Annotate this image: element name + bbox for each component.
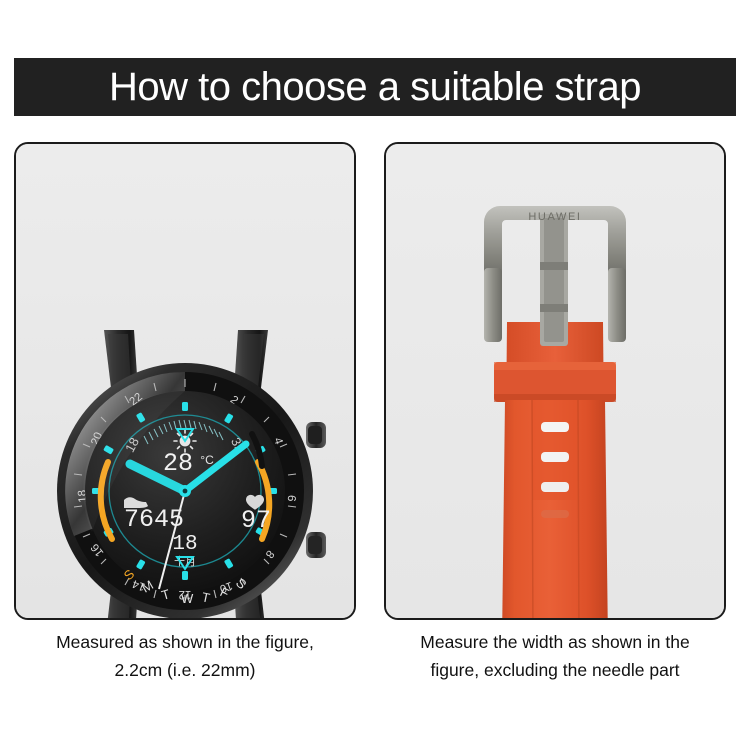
buckle-brand-label: HUAWEI bbox=[528, 211, 581, 223]
method-1-caption-line2: 2.2cm (i.e. 22mm) bbox=[14, 656, 356, 684]
method-1-panel: Method 1 bbox=[14, 142, 356, 620]
strap-svg: HUAWEI bbox=[386, 144, 724, 618]
method-2-caption-line2: figure, excluding the needle part bbox=[384, 656, 726, 684]
page-root: How to choose a suitable strap Method 1 bbox=[0, 0, 750, 750]
method-1-caption: Measured as shown in the figure, 2.2cm (… bbox=[14, 628, 356, 685]
smartwatch-illustration: 2 4 6 8 10 12 14 16 18 20 22 bbox=[16, 144, 354, 618]
method-2-caption-line1: Measure the width as shown in the bbox=[384, 628, 726, 656]
method-2-caption: Measure the width as shown in the figure… bbox=[384, 628, 726, 685]
method-2-panel: Method 2 bbox=[384, 142, 726, 620]
date-day-value: 18 bbox=[172, 533, 197, 556]
header-banner: How to choose a suitable strap bbox=[14, 58, 736, 116]
bezel-number: 6 bbox=[285, 495, 298, 502]
watch-strap-illustration: HUAWEI bbox=[386, 144, 724, 618]
temperature-value: 28 bbox=[163, 449, 193, 478]
page-title: How to choose a suitable strap bbox=[109, 65, 641, 110]
heart-rate-value: 97 bbox=[241, 506, 271, 535]
method-1-caption-line1: Measured as shown in the figure, bbox=[14, 628, 356, 656]
smartwatch-svg: 2 4 6 8 10 12 14 16 18 20 22 bbox=[16, 144, 354, 618]
temperature-unit: °C bbox=[200, 453, 214, 467]
weekday-wednesday: W bbox=[181, 591, 194, 606]
